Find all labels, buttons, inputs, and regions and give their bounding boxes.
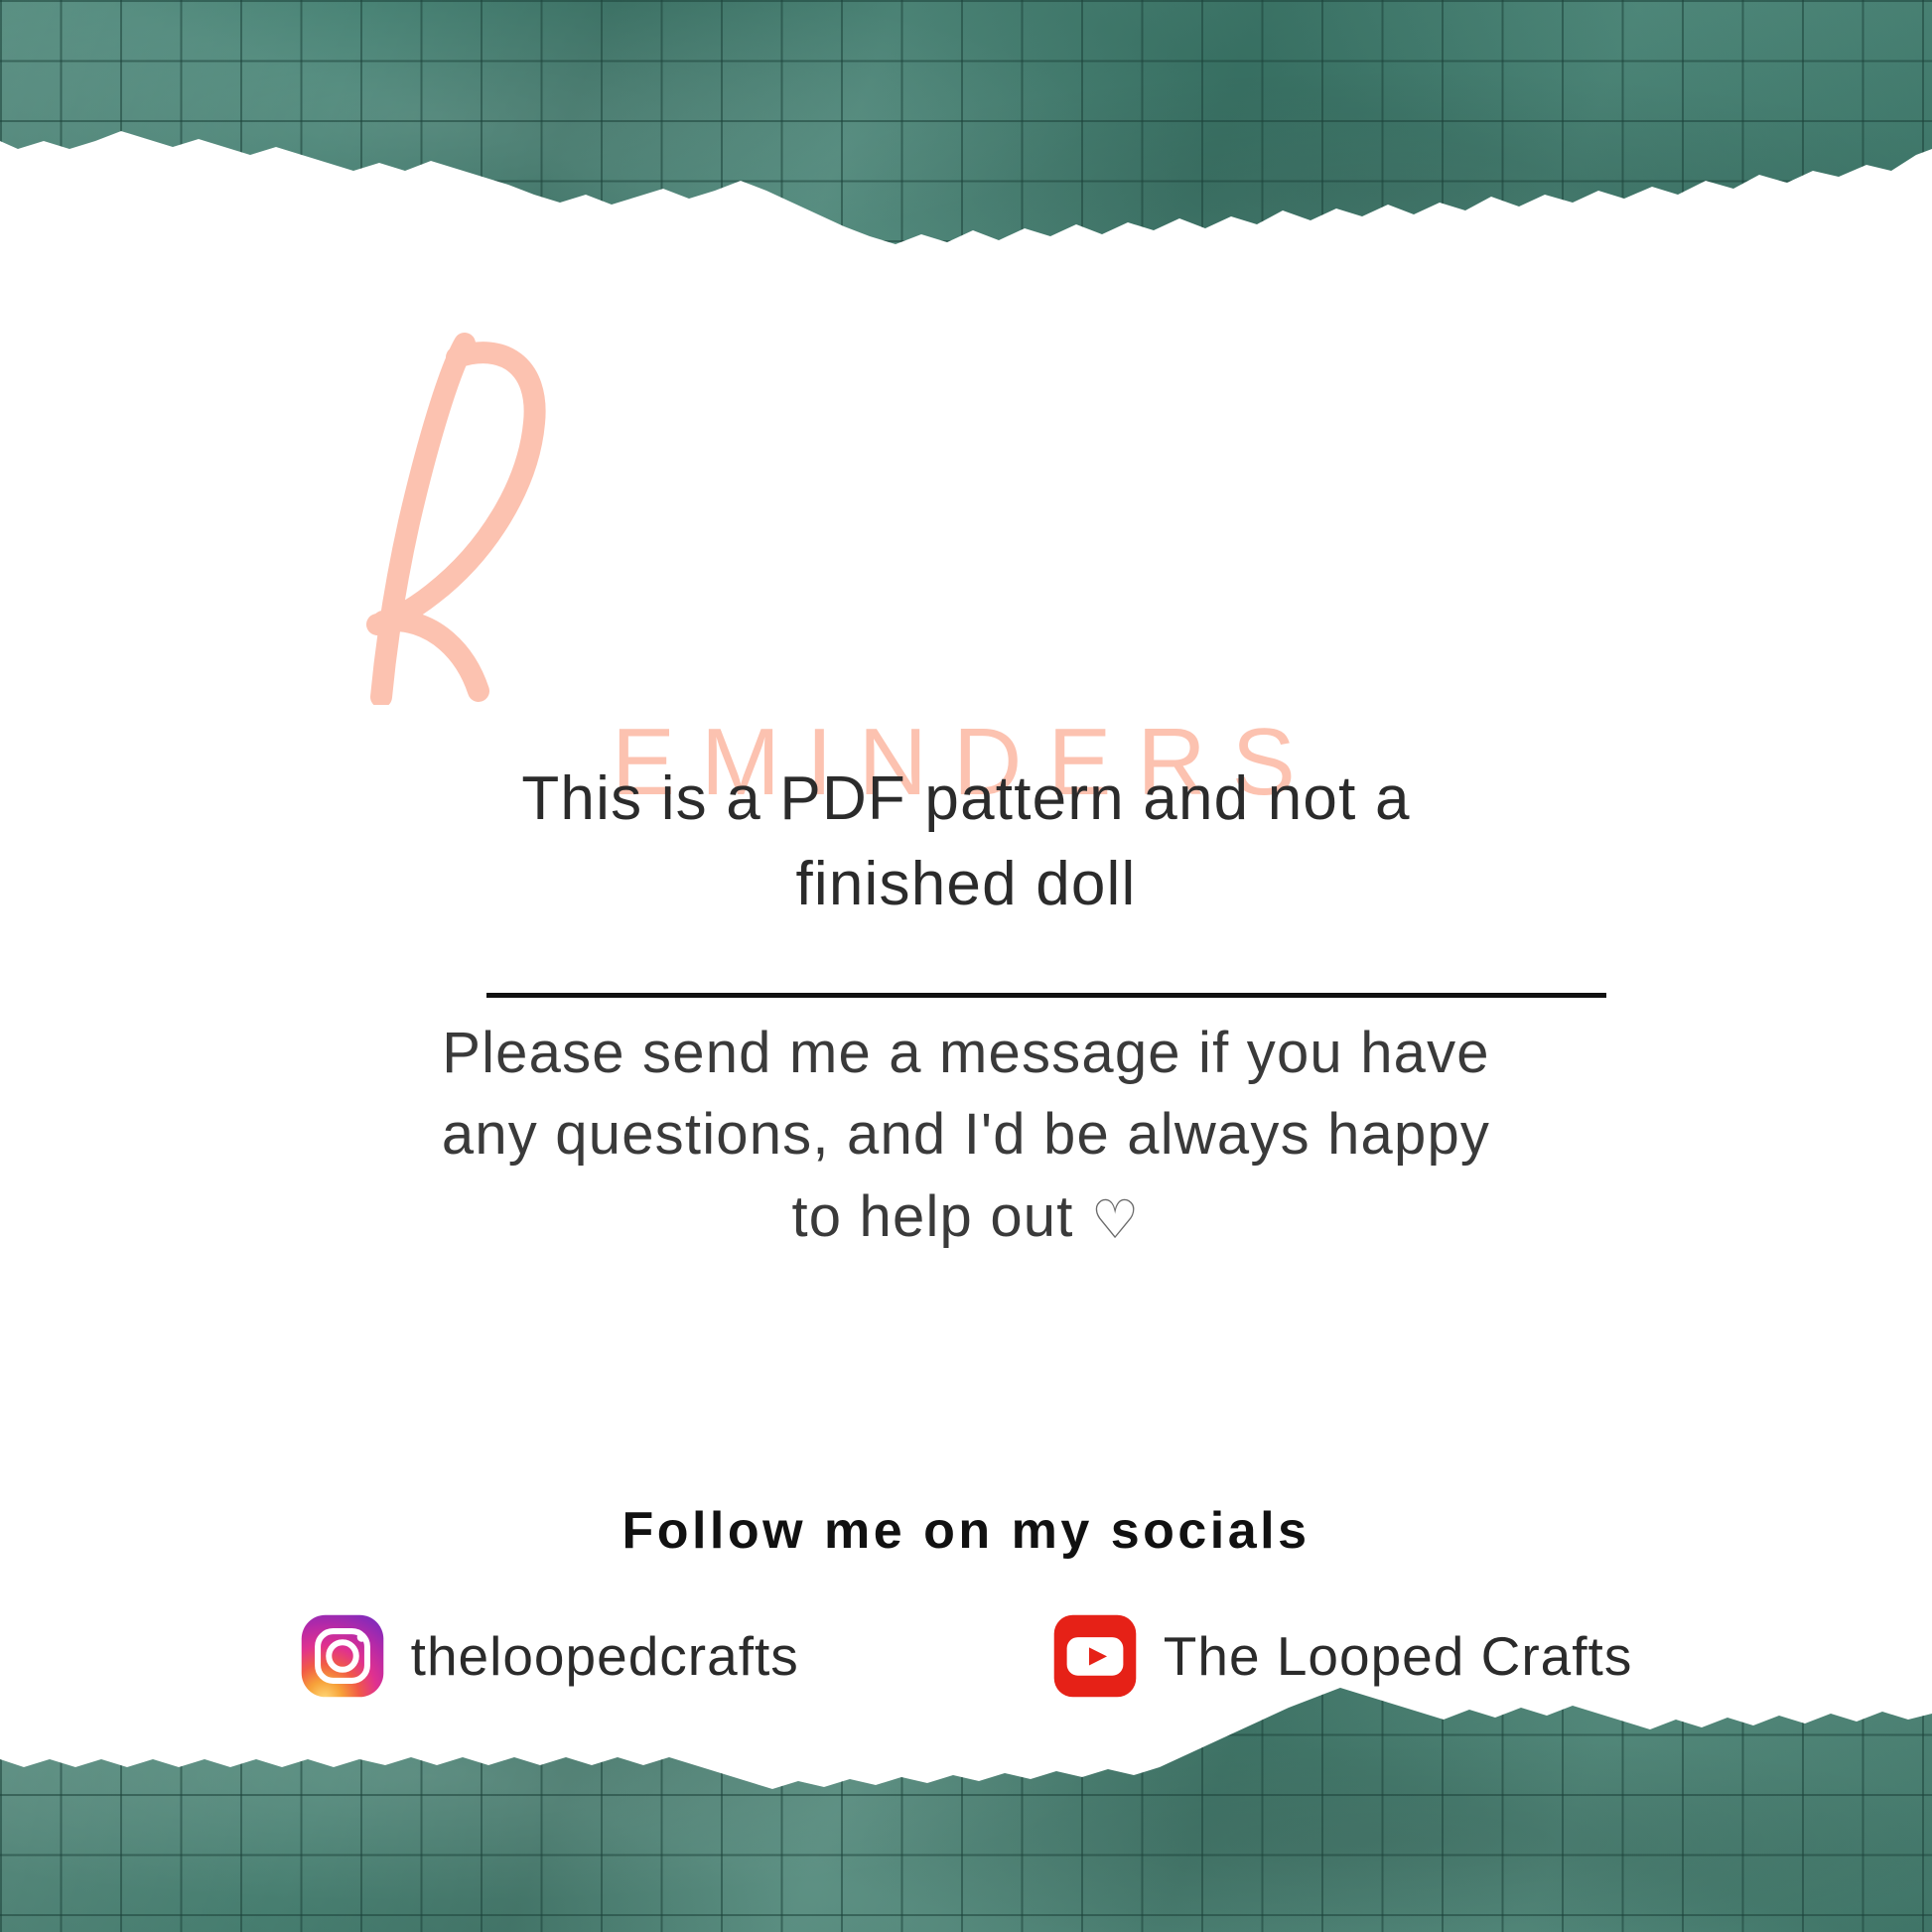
paragraph-2-line-3-wrap: to help out ♡ [0, 1176, 1932, 1259]
headline-block: EMINDERS [0, 328, 1932, 635]
headline-divider-rule [486, 993, 1606, 998]
paragraph-1-line-1: This is a PDF pattern and not a [0, 757, 1932, 842]
reminders-graphic: EMINDERS This is a PDF pattern and not a… [0, 0, 1932, 1932]
bottom-torn-paper-band [0, 1674, 1932, 1932]
socials-heading: Follow me on my socials [0, 1501, 1932, 1561]
paragraph-2-line-1: Please send me a message if you have [0, 1013, 1932, 1094]
paragraph-2-line-3: to help out [791, 1184, 1073, 1249]
top-tear-shape [0, 0, 1932, 298]
paragraph-contact-invite: Please send me a message if you have any… [0, 1013, 1932, 1258]
paragraph-2-line-2: any questions, and I'd be always happy [0, 1094, 1932, 1175]
paragraph-1-line-2: finished doll [0, 842, 1932, 927]
top-torn-paper-band [0, 0, 1932, 298]
bottom-paper-texture [0, 1674, 1932, 1932]
top-paper-texture [0, 0, 1932, 298]
paragraph-pdf-notice: This is a PDF pattern and not a finished… [0, 757, 1932, 926]
bottom-tear-shape [0, 1674, 1932, 1932]
heart-outline-icon: ♡ [1091, 1190, 1141, 1250]
script-letter-r-icon [298, 328, 635, 705]
